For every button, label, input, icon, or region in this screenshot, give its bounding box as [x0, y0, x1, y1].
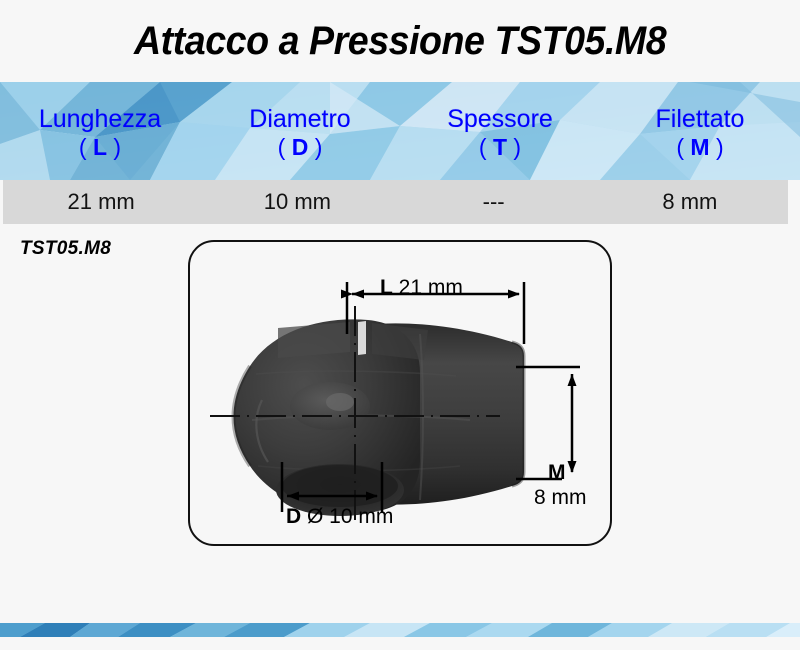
spec-value-diametro: 10 mm	[199, 180, 395, 224]
spec-header-diametro-symbol: ( D )	[278, 135, 323, 160]
spec-value-lunghezza: 21 mm	[3, 180, 199, 224]
dimension-label-diameter: D Ø 10 mm	[286, 505, 393, 529]
spec-header-filettato: Filettato ( M )	[600, 82, 800, 180]
spec-header-filettato-symbol: ( M )	[676, 135, 723, 160]
footer-padding	[0, 637, 800, 650]
spec-header-lunghezza: Lunghezza ( L )	[0, 82, 200, 180]
polygon-pattern-icon-footer	[0, 623, 800, 637]
spec-header-filettato-name: Filettato	[656, 106, 745, 134]
spec-value-spessore: ---	[396, 180, 592, 224]
spec-header-spessore: Spessore ( T )	[400, 82, 600, 180]
dimension-label-thread-value: 8 mm	[534, 486, 587, 510]
spec-values-band: 21 mm 10 mm --- 8 mm	[3, 180, 788, 224]
dimension-label-length: L 21 mm	[380, 276, 463, 300]
spec-header-lunghezza-name: Lunghezza	[39, 106, 161, 134]
arrow-up-icon	[568, 374, 577, 386]
spec-value-filettato: 8 mm	[592, 180, 788, 224]
spec-header-diametro-name: Diametro	[249, 106, 350, 134]
page-title: Attacco a Pressione TST05.M8	[134, 21, 666, 61]
spec-header-spessore-symbol: ( T )	[479, 135, 521, 160]
spec-header-diametro: Diametro ( D )	[200, 82, 400, 180]
title-bar: Attacco a Pressione TST05.M8	[0, 0, 800, 82]
spec-header-spessore-name: Spessore	[447, 106, 553, 134]
arrow-left-icon	[352, 290, 364, 299]
spec-header-columns: Lunghezza ( L ) Diametro ( D ) Spessore …	[0, 82, 800, 180]
footer-polygon-strip	[0, 623, 800, 637]
spec-header-band: Lunghezza ( L ) Diametro ( D ) Spessore …	[0, 82, 800, 180]
dimension-label-thread-symbol: M	[548, 461, 566, 485]
spec-header-lunghezza-symbol: ( L )	[79, 135, 121, 160]
ball-socket-fitting-photo	[234, 319, 525, 516]
technical-drawing-area: TST05.M8	[0, 224, 800, 623]
